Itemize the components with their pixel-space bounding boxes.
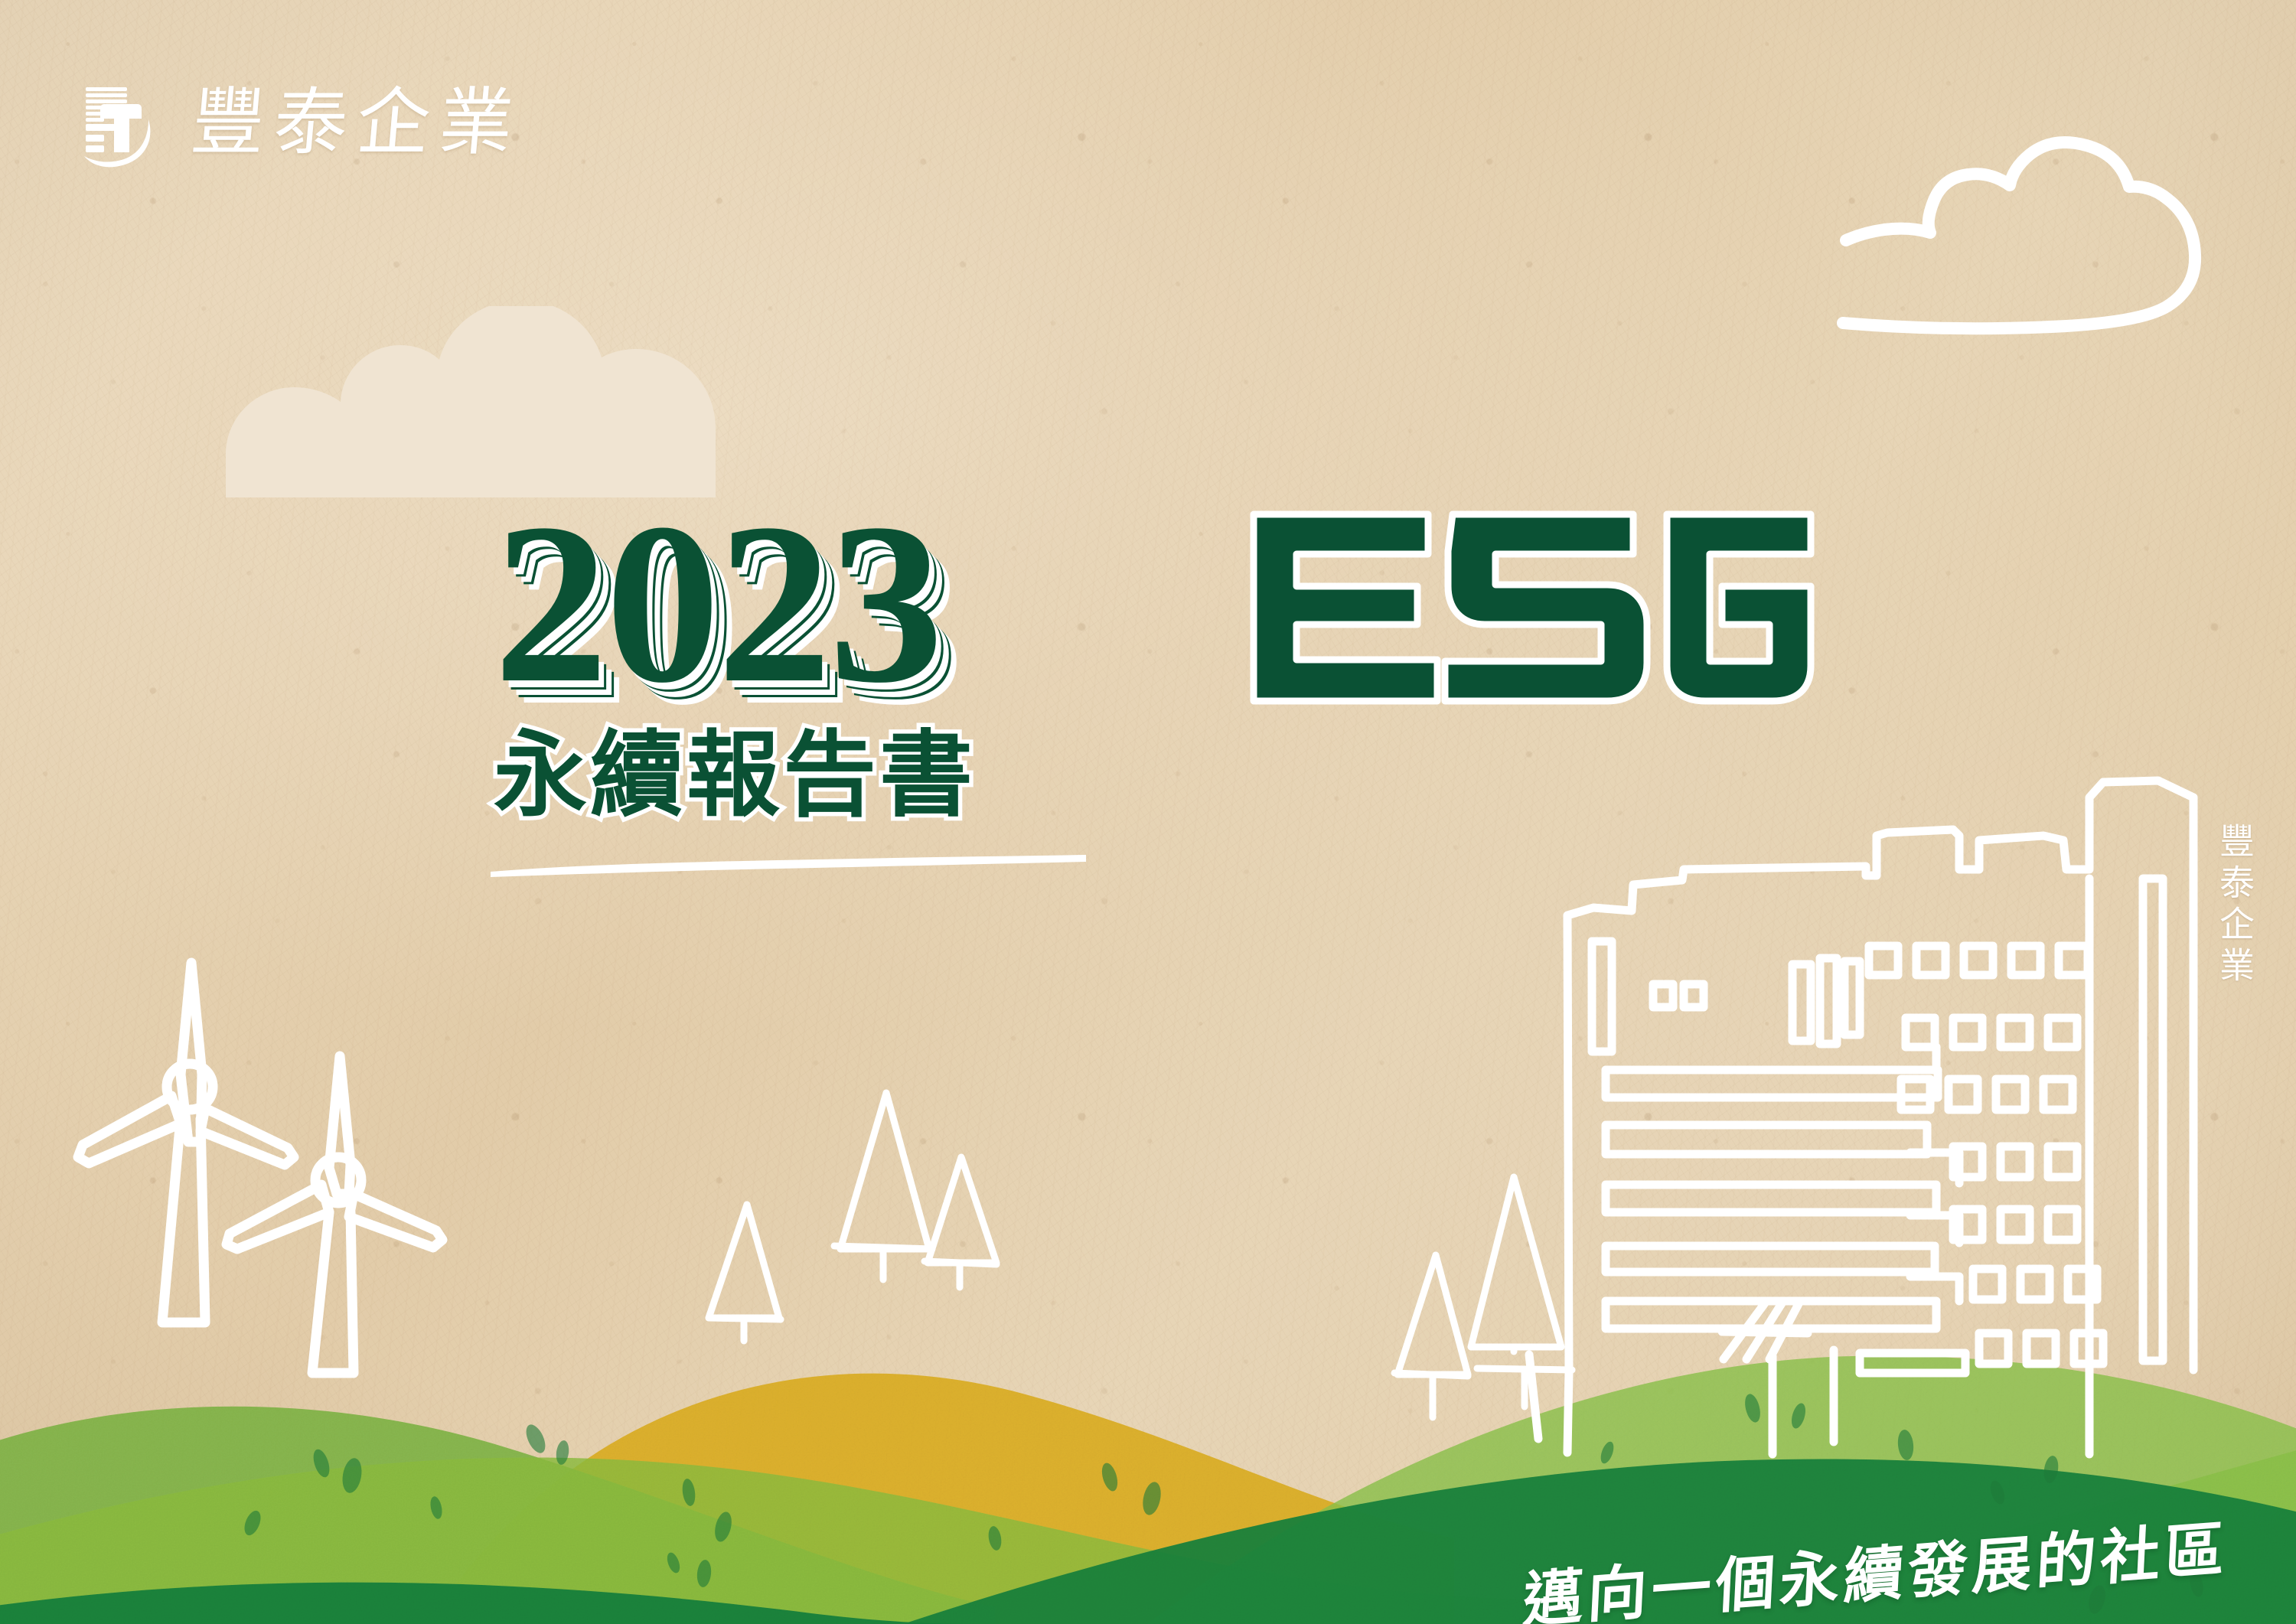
ft-monogram-logo-icon — [75, 77, 161, 170]
subtitle-underline — [486, 851, 1091, 879]
office-building-icon — [1529, 781, 2193, 1454]
pine-tree-icon — [925, 1157, 996, 1287]
report-subtitle: 永續報告書 — [494, 729, 976, 822]
pine-tree-icon — [834, 1093, 932, 1280]
cover-title-block: 2023 永續報告書 — [494, 505, 1841, 727]
pine-tree-icon — [709, 1205, 781, 1341]
pine-tree-icon — [1471, 1177, 1572, 1407]
pine-tree-icon — [1394, 1255, 1468, 1417]
esg-report-cover: 豐泰企業 2023 永續報告書 — [0, 0, 2296, 1624]
brand-header: 豐泰企業 — [75, 77, 522, 170]
chalk-illustration-layer — [0, 0, 2296, 1624]
wind-turbine-icon — [227, 1056, 442, 1373]
brand-name: 豐泰企業 — [188, 86, 525, 160]
wind-turbine-icon — [78, 963, 294, 1322]
esg-wordmark — [1247, 510, 1818, 709]
report-year: 2023 — [494, 488, 941, 718]
building-sign-text: 豐泰企業 — [2212, 823, 2256, 988]
